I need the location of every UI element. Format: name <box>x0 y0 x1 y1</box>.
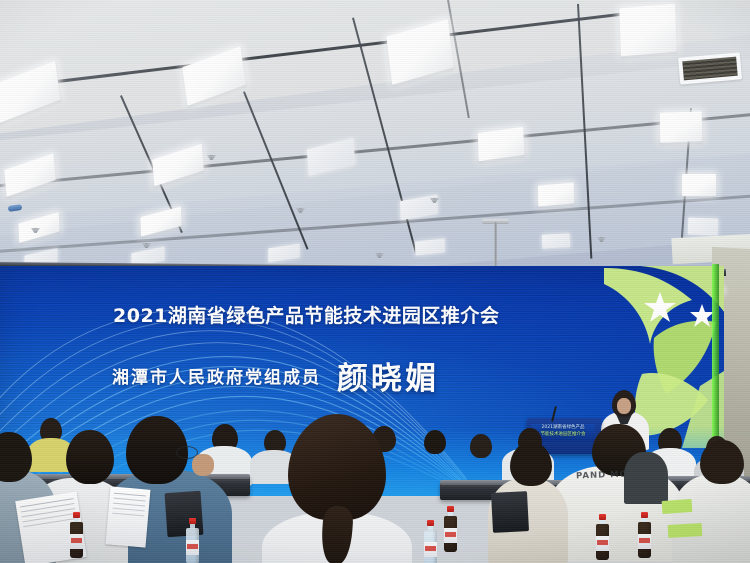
water-bottle <box>638 512 651 558</box>
green-notepad <box>662 499 693 514</box>
printed-handout <box>106 486 151 547</box>
conference-hall-photo: 2021湖南省绿色产品节能技术进园区推介会 湘潭市人民政府党组成员 颜晓媚 20… <box>0 0 750 563</box>
podium-banner-line-1: 2021湖南省绿色产品 <box>531 424 595 431</box>
audience-hand <box>192 454 214 476</box>
led-panel-light <box>619 4 676 57</box>
screen-subtitle: 湘潭市人民政府党组成员 <box>112 363 321 388</box>
water-bottle <box>444 506 457 552</box>
seated-audience-member <box>66 430 114 484</box>
seated-audience-member <box>424 430 446 454</box>
ceiling <box>0 0 750 300</box>
seated-audience-member <box>510 442 552 486</box>
water-bottle <box>70 512 83 558</box>
air-supply-vent <box>678 52 742 84</box>
seated-audience-member <box>672 474 750 563</box>
tablet-device <box>491 491 529 533</box>
water-bottle <box>186 518 199 563</box>
bottle-label <box>70 534 83 549</box>
seated-audience-member <box>470 434 492 458</box>
bottle-label <box>596 536 609 551</box>
led-panel-light <box>660 111 702 142</box>
water-bottle <box>424 520 437 563</box>
seated-audience-member <box>624 452 668 504</box>
speaker-face <box>617 398 631 414</box>
led-panel-light <box>538 182 574 206</box>
bottle-label <box>638 534 651 549</box>
screen-headline: 2021湖南省绿色产品节能技术进园区推介会 <box>113 301 499 328</box>
water-bottle <box>596 514 609 560</box>
led-panel-light <box>688 217 719 235</box>
bottle-label <box>186 540 199 555</box>
screen-speaker-name: 颜晓媚 <box>337 353 439 398</box>
bottle-label <box>424 542 437 557</box>
bottle-label <box>444 528 457 543</box>
led-panel-light <box>682 174 716 196</box>
green-notepad <box>668 523 703 538</box>
led-panel-light <box>542 233 571 248</box>
seated-audience-member <box>700 440 744 484</box>
